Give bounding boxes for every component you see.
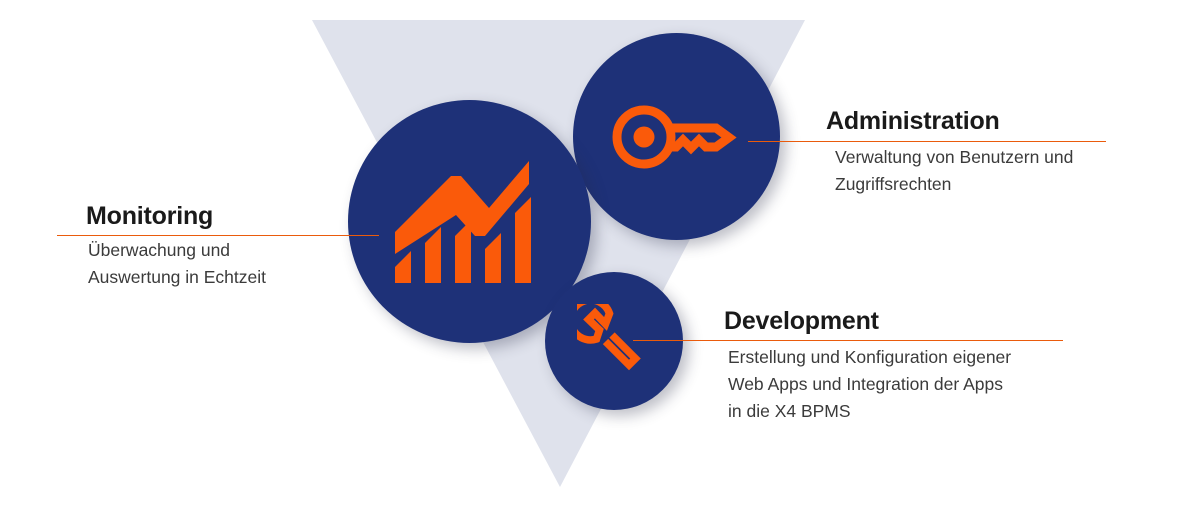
node-description-monitoring: Überwachung und Auswertung in Echtzeit bbox=[86, 231, 266, 291]
node-description-development: Erstellung und Konfiguration eigener Web… bbox=[724, 336, 1011, 425]
node-circle-development[interactable] bbox=[545, 272, 683, 410]
node-title-development: Development bbox=[724, 306, 1011, 336]
bar-chart-trend-icon bbox=[395, 152, 545, 292]
label-block-development: Development Erstellung und Konfiguration… bbox=[724, 306, 1011, 425]
node-title-administration: Administration bbox=[826, 106, 1073, 136]
node-description-administration: Verwaltung von Benutzern und Zugriffsrec… bbox=[826, 136, 1073, 198]
wrench-icon bbox=[577, 304, 651, 378]
label-block-administration: Administration Verwaltung von Benutzern … bbox=[826, 106, 1073, 198]
node-circle-administration[interactable] bbox=[573, 33, 780, 240]
key-icon bbox=[611, 100, 743, 174]
infographic-canvas: Monitoring Überwachung und Auswertung in… bbox=[0, 0, 1189, 516]
node-title-monitoring: Monitoring bbox=[86, 201, 266, 231]
label-block-monitoring: Monitoring Überwachung und Auswertung in… bbox=[86, 201, 266, 291]
